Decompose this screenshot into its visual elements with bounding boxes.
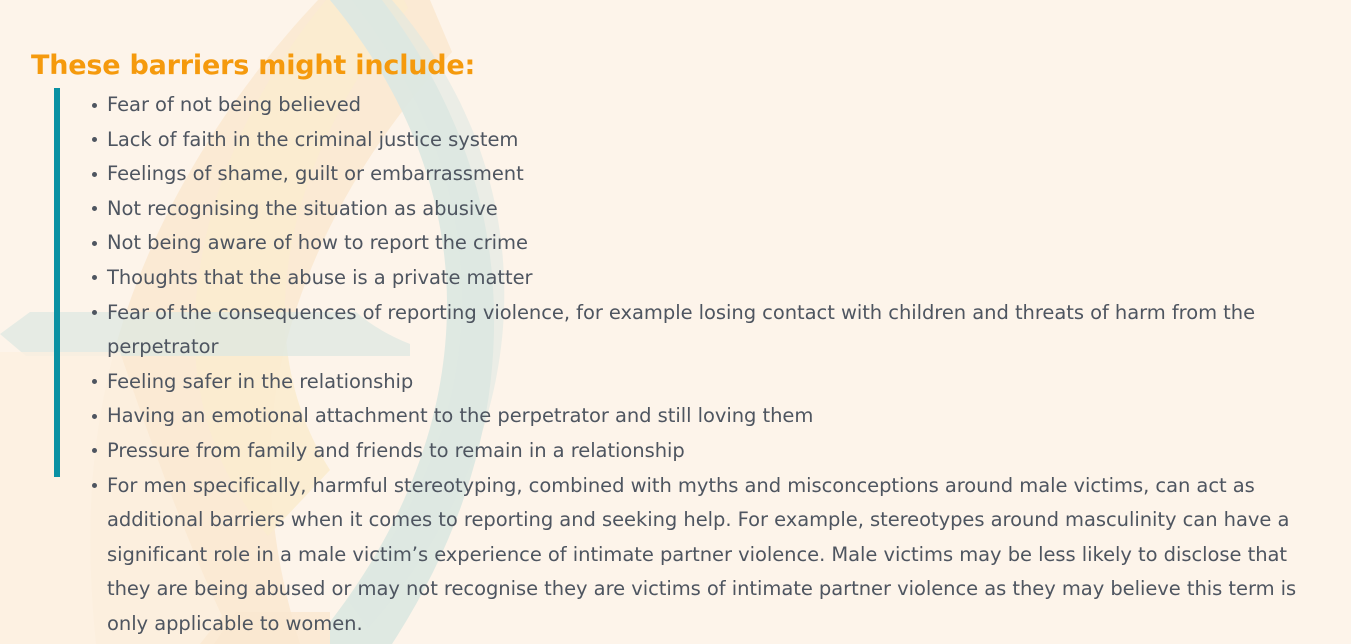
list-item: Having an emotional attachment to the pe… [54,399,1324,434]
list-item-text: Not recognising the situation as abusive [107,192,1324,227]
list-item-text: Having an emotional attachment to the pe… [107,399,1324,434]
list-item: Feeling safer in the relationship [54,365,1324,400]
list-item-text: For men specifically, harmful stereotypi… [107,469,1324,642]
bullet-icon [92,172,97,177]
bullet-icon [92,483,97,488]
list-item: Lack of faith in the criminal justice sy… [54,123,1324,158]
bullet-icon [92,275,97,280]
document-body: These barriers might include: Fear of no… [0,0,1351,644]
list-item: Pressure from family and friends to rema… [54,434,1324,469]
list-item: Thoughts that the abuse is a private mat… [54,261,1324,296]
list-item-text: Not being aware of how to report the cri… [107,226,1324,261]
list-item-text: Fear of the consequences of reporting vi… [107,296,1324,365]
list-item-text: Lack of faith in the criminal justice sy… [107,123,1324,158]
list-item: Fear of not being believed [54,88,1324,123]
list-item: Fear of the consequences of reporting vi… [54,296,1324,365]
list-item-text: Feelings of shame, guilt or embarrassmen… [107,157,1324,192]
bullet-icon [92,137,97,142]
list-item-text: Thoughts that the abuse is a private mat… [107,261,1324,296]
list-item-text: Fear of not being believed [107,88,1324,123]
list-item: For men specifically, harmful stereotypi… [54,469,1324,642]
bullet-icon [92,206,97,211]
bullet-icon [92,241,97,246]
bullet-icon [92,310,97,315]
bullet-icon [92,448,97,453]
list-item-text: Pressure from family and friends to rema… [107,434,1324,469]
list-item-text: Feeling safer in the relationship [107,365,1324,400]
bullet-icon [92,379,97,384]
bullet-icon [92,414,97,419]
barriers-section: Fear of not being believed Lack of faith… [54,88,1324,642]
barriers-list: Fear of not being believed Lack of faith… [54,88,1324,642]
list-item: Not being aware of how to report the cri… [54,226,1324,261]
list-item: Not recognising the situation as abusive [54,192,1324,227]
list-item: Feelings of shame, guilt or embarrassmen… [54,157,1324,192]
bullet-icon [92,103,97,108]
page-title: These barriers might include: [31,51,475,81]
